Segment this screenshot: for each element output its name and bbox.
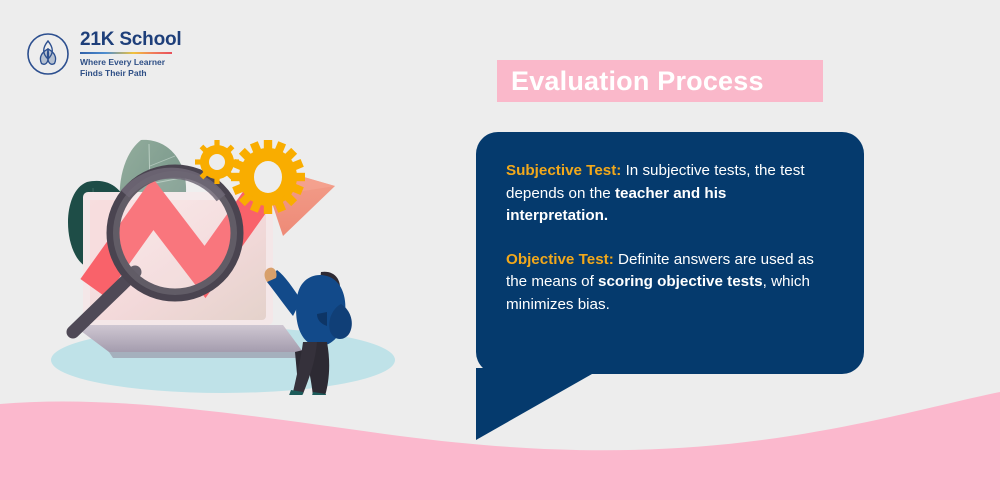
- brand-logo[interactable]: 21K School Where Every Learner Finds The…: [26, 30, 181, 78]
- logo-name: 21K School: [80, 30, 181, 50]
- infographic-canvas: 21K School Where Every Learner Finds The…: [0, 0, 1000, 500]
- paragraph-objective-test: Objective Test: Definite answers are use…: [506, 249, 822, 317]
- page-title: Evaluation Process: [497, 66, 764, 96]
- subjective-test-lead: Subjective Test:: [506, 162, 621, 179]
- logo-tagline-line1: Where Every Learner: [80, 57, 181, 68]
- speech-bubble-content: Subjective Test: In subjective tests, th…: [506, 160, 822, 316]
- objective-test-lead: Objective Test:: [506, 251, 614, 268]
- paragraph-subjective-test: Subjective Test: In subjective tests, th…: [506, 160, 822, 228]
- logo-text-block: 21K School Where Every Learner Finds The…: [80, 30, 181, 78]
- title-banner: Evaluation Process: [497, 60, 823, 102]
- logo-tagline-line2: Finds Their Path: [80, 68, 181, 79]
- lotus-circle-icon: [26, 32, 70, 76]
- objective-test-bold-1: scoring objective tests: [598, 273, 763, 290]
- speech-bubble: Subjective Test: In subjective tests, th…: [476, 132, 864, 407]
- large-gear: [231, 140, 305, 214]
- data-analysis-illustration: [45, 120, 425, 395]
- speech-bubble-tail: [476, 368, 596, 444]
- logo-gradient-rule: [80, 52, 172, 55]
